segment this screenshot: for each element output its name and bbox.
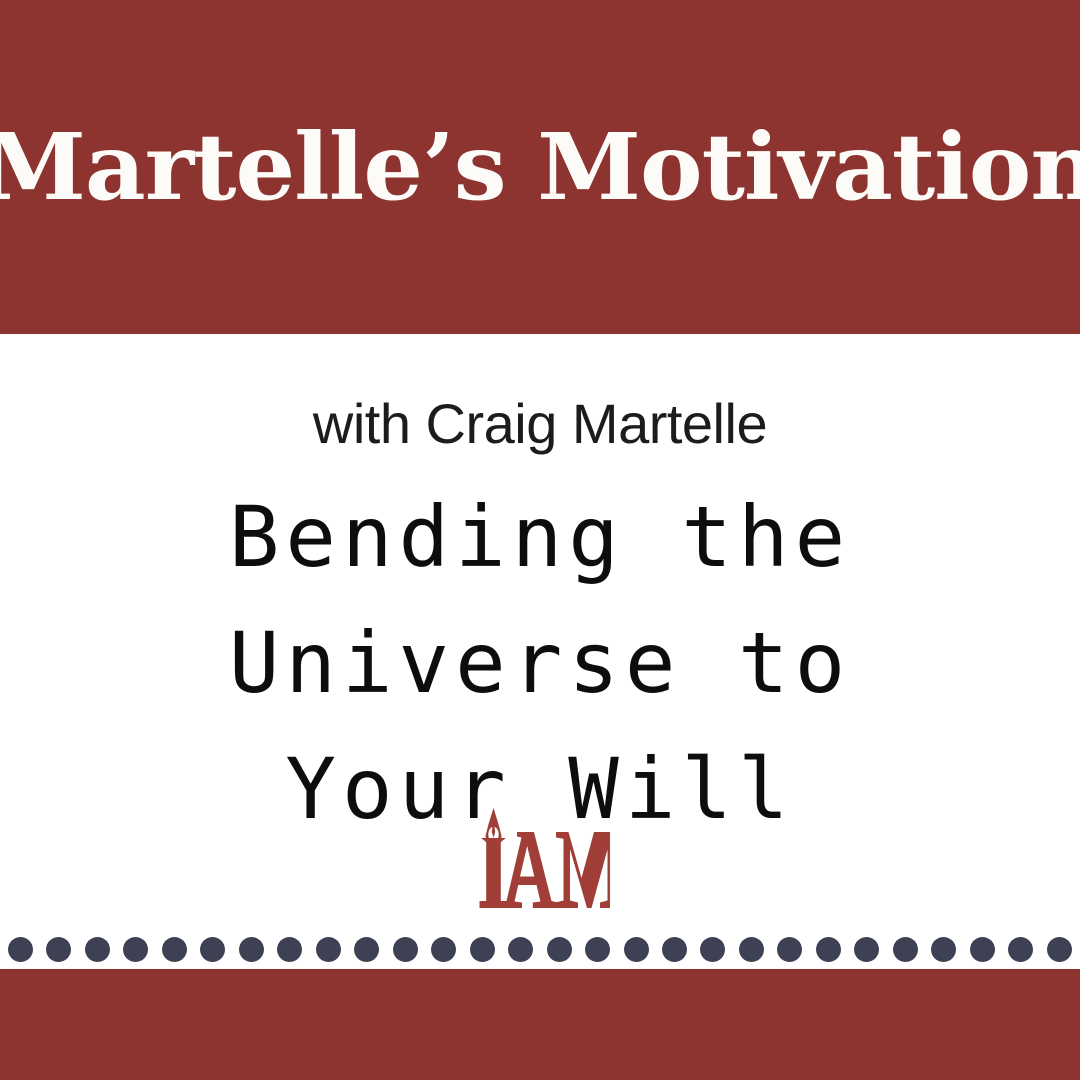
divider-dot: [893, 937, 918, 962]
divider-dot: [816, 937, 841, 962]
body-area: with Craig Martelle Bending the Universe…: [0, 334, 1080, 969]
divider-dot: [662, 937, 687, 962]
episode-title: Bending the Universe to Your Will: [0, 474, 1080, 852]
divider-dot: [854, 937, 879, 962]
divider-dot: [700, 937, 725, 962]
divider-dot: [739, 937, 764, 962]
divider-dot: [1008, 937, 1033, 962]
dotted-divider: [0, 929, 1080, 969]
divider-dot: [239, 937, 264, 962]
divider-dot: [8, 937, 33, 962]
divider-dot: [123, 937, 148, 962]
show-title: Martelle’s Motivation: [0, 121, 1080, 213]
podcast-cover-art: Martelle’s Motivation with Craig Martell…: [0, 0, 1080, 1080]
divider-dot: [777, 937, 802, 962]
divider-dot: [200, 937, 225, 962]
divider-dot: [547, 937, 572, 962]
divider-dot: [624, 937, 649, 962]
divider-dot: [508, 937, 533, 962]
divider-dot: [277, 937, 302, 962]
divider-dot: [585, 937, 610, 962]
iam-logo: [470, 808, 610, 914]
divider-dot: [1047, 937, 1072, 962]
divider-dot: [470, 937, 495, 962]
footer-band: [0, 969, 1080, 1080]
divider-dot: [970, 937, 995, 962]
episode-title-line-1: Bending the: [0, 474, 1080, 600]
header-band: Martelle’s Motivation: [0, 0, 1080, 334]
pen-nib-icon: [486, 808, 502, 842]
episode-title-line-2: Universe to: [0, 600, 1080, 726]
divider-dot: [316, 937, 341, 962]
host-byline: with Craig Martelle: [0, 396, 1080, 452]
divider-dot: [931, 937, 956, 962]
divider-dot: [162, 937, 187, 962]
divider-dot: [393, 937, 418, 962]
divider-dot: [354, 937, 379, 962]
divider-dot: [46, 937, 71, 962]
divider-dot: [85, 937, 110, 962]
divider-dot: [431, 937, 456, 962]
